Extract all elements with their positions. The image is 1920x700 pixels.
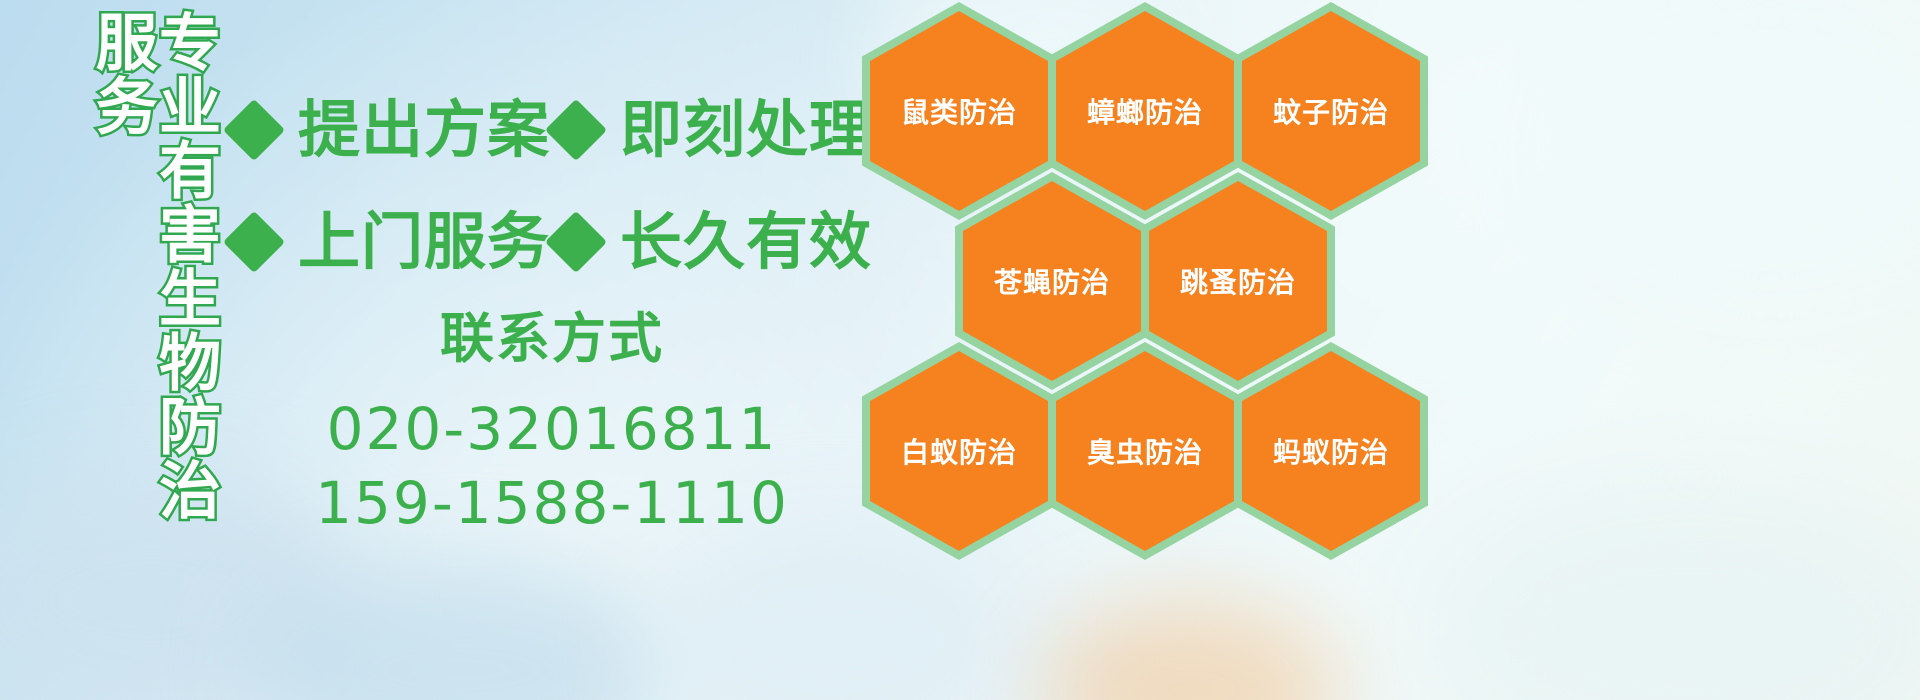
service-label: 苍蝇防治 [994, 261, 1110, 301]
hex-inner: 蟑螂防治 [1056, 11, 1234, 211]
service-hex-grid: 鼠类防治 蟑螂防治 蚊子防治 苍蝇防治 跳蚤防治 白蚁防 [862, 0, 1462, 554]
hex-inner: 蚂蚁防治 [1242, 351, 1420, 551]
feature-label: 提出方案 [298, 99, 550, 161]
hex-inner: 跳蚤防治 [1149, 181, 1327, 381]
feature-label: 即刻处理 [620, 99, 872, 161]
background-blob [1430, 480, 1920, 700]
hex-inner: 蚊子防治 [1242, 11, 1420, 211]
service-label: 跳蚤防治 [1180, 261, 1296, 301]
vertical-title: 专业有害生物防治服务 [104, 10, 216, 570]
feature-list: 提出方案 即刻处理 上门服务 长久有效 [232, 74, 872, 298]
feature-item: 提出方案 [232, 99, 550, 161]
hex-inner: 鼠类防治 [870, 11, 1048, 211]
feature-item: 长久有效 [554, 211, 872, 273]
feature-label: 上门服务 [298, 211, 550, 273]
service-label: 鼠类防治 [901, 91, 1017, 131]
feature-label: 长久有效 [620, 211, 872, 273]
background-blob [1560, 0, 1920, 300]
contact-block: 联系方式 020-32016811 159-1588-1110 [232, 312, 872, 540]
diamond-icon [223, 99, 285, 161]
pest-control-banner: 专业有害生物防治服务 提出方案 即刻处理 上门服务 长久有效 [0, 0, 1920, 700]
diamond-icon [545, 99, 607, 161]
feature-row: 提出方案 即刻处理 [232, 74, 872, 186]
service-label: 白蚁防治 [901, 431, 1017, 471]
contact-title: 联系方式 [232, 312, 872, 366]
service-label: 蟑螂防治 [1087, 91, 1203, 131]
hex-inner: 白蚁防治 [870, 351, 1048, 551]
phone-number-primary[interactable]: 020-32016811 [232, 392, 872, 466]
background-blob [1040, 600, 1340, 700]
background-blob [250, 560, 670, 700]
diamond-icon [223, 211, 285, 273]
diamond-icon [545, 211, 607, 273]
feature-row: 上门服务 长久有效 [232, 186, 872, 298]
hex-inner: 苍蝇防治 [963, 181, 1141, 381]
service-label: 蚊子防治 [1273, 91, 1389, 131]
phone-number-secondary[interactable]: 159-1588-1110 [232, 466, 872, 540]
feature-item: 上门服务 [232, 211, 550, 273]
service-label: 臭虫防治 [1087, 431, 1203, 471]
hex-inner: 臭虫防治 [1056, 351, 1234, 551]
service-label: 蚂蚁防治 [1273, 431, 1389, 471]
feature-item: 即刻处理 [554, 99, 872, 161]
